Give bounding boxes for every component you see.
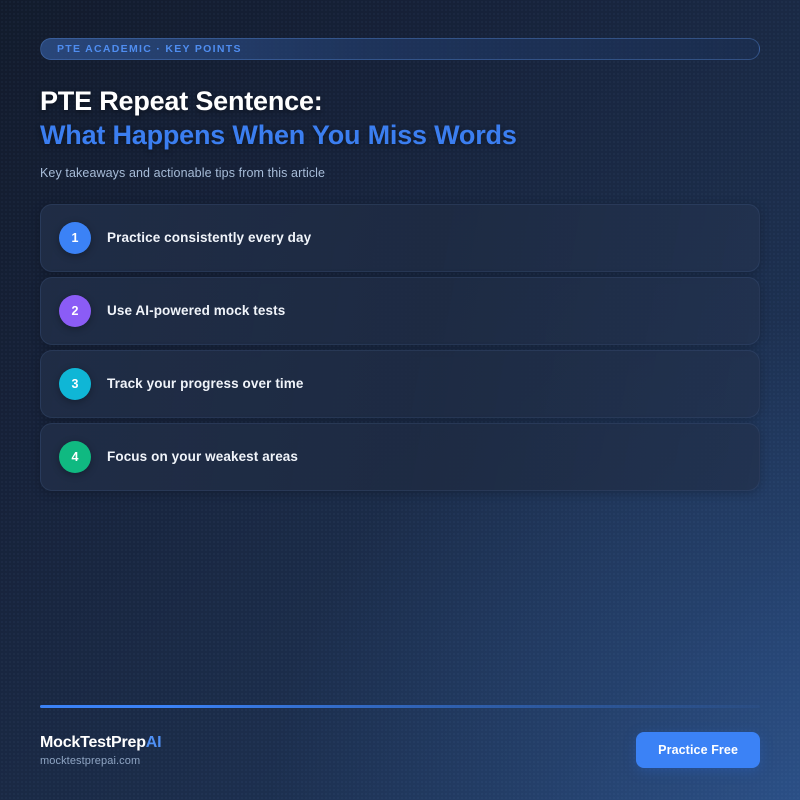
footer-row: MockTestPrepAI mocktestprepai.com Practi…	[40, 732, 760, 768]
page-title-line2: What Happens When You Miss Words	[40, 120, 760, 152]
brand-name: MockTestPrepAI	[40, 734, 161, 752]
key-point-card: 2Use AI-powered mock tests	[40, 277, 760, 345]
key-point-number-badge: 3	[59, 368, 91, 400]
key-point-number-badge: 4	[59, 441, 91, 473]
key-point-card: 1Practice consistently every day	[40, 204, 760, 272]
key-point-number-badge: 1	[59, 222, 91, 254]
brand-name-main: MockTestPrep	[40, 734, 146, 751]
key-point-text: Practice consistently every day	[107, 230, 311, 245]
key-point-text: Use AI-powered mock tests	[107, 303, 285, 318]
footer-divider	[40, 705, 760, 708]
brand-name-accent: AI	[146, 734, 162, 751]
key-point-card: 4Focus on your weakest areas	[40, 423, 760, 491]
category-badge: PTE ACADEMIC · KEY POINTS	[40, 38, 760, 60]
brand-url: mocktestprepai.com	[40, 755, 161, 767]
poster-footer: MockTestPrepAI mocktestprepai.com Practi…	[40, 705, 760, 768]
practice-free-button[interactable]: Practice Free	[636, 732, 760, 768]
poster-content: PTE ACADEMIC · KEY POINTS PTE Repeat Sen…	[0, 0, 800, 800]
key-point-number-badge: 2	[59, 295, 91, 327]
brand-block: MockTestPrepAI mocktestprepai.com	[40, 734, 161, 767]
page-title-line1: PTE Repeat Sentence:	[40, 86, 760, 118]
key-points-poster: PTE ACADEMIC · KEY POINTS PTE Repeat Sen…	[0, 0, 800, 800]
key-point-card: 3Track your progress over time	[40, 350, 760, 418]
key-point-text: Focus on your weakest areas	[107, 449, 298, 464]
page-subtitle: Key takeaways and actionable tips from t…	[40, 166, 760, 180]
key-point-text: Track your progress over time	[107, 376, 303, 391]
key-points-list: 1Practice consistently every day2Use AI-…	[40, 204, 760, 491]
category-badge-label: PTE ACADEMIC · KEY POINTS	[57, 43, 242, 55]
